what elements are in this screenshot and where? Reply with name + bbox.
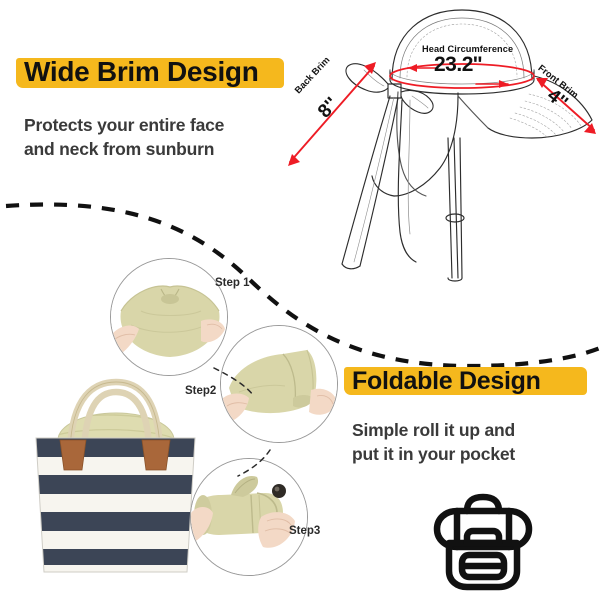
infographic-canvas: Wide Brim Design Protects your entire fa… (0, 0, 600, 600)
step1-label: Step 1 (215, 277, 250, 289)
step2-label: Step2 (185, 385, 216, 397)
wide-brim-heading-group: Wide Brim Design (24, 52, 259, 92)
step-connector-lines (0, 250, 400, 590)
step3-label: Step3 (289, 525, 320, 537)
head-circumference-value: 23.2'' (434, 53, 482, 77)
wide-brim-heading: Wide Brim Design (24, 52, 259, 92)
wide-brim-subtext: Protects your entire face and neck from … (24, 113, 224, 161)
backpack-icon (427, 487, 539, 593)
